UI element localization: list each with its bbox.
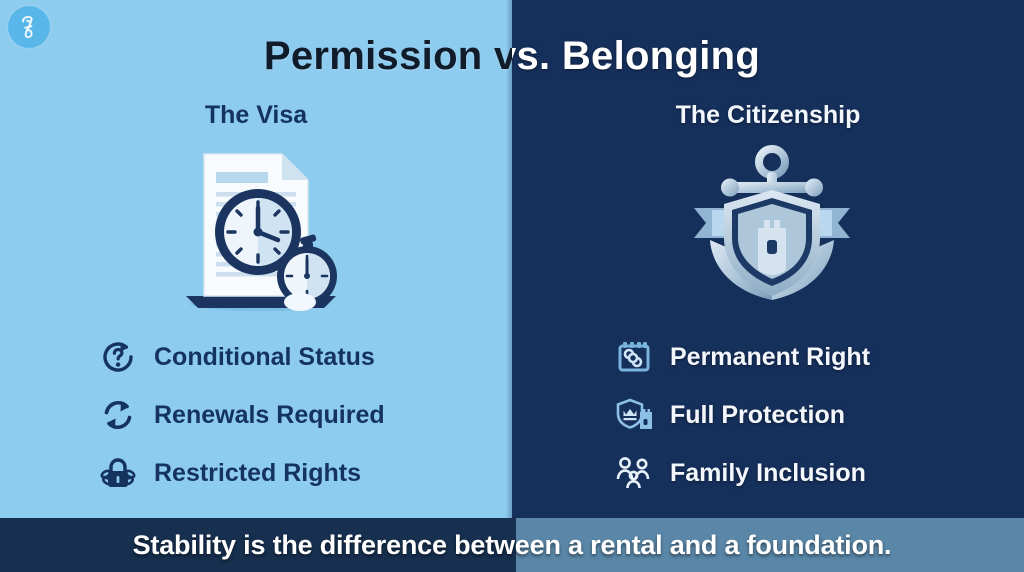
right-column-subtitle: The Citizenship	[512, 98, 1024, 132]
caption-text: Stability is the difference between a re…	[0, 518, 1024, 572]
visa-illustration	[160, 136, 360, 316]
bullet-item[interactable]: Restricted Rights	[96, 444, 496, 502]
question-mark-refresh-icon	[96, 335, 140, 379]
anchor-shield-castle-banner-icon	[672, 136, 872, 316]
left-column-subtitle: The Visa	[0, 98, 512, 132]
document-with-clock-and-stopwatch-icon	[160, 136, 360, 316]
infographic-slide: Permission vs. Belonging Permission vs. …	[0, 0, 1024, 572]
bullet-item[interactable]: Permanent Right	[612, 328, 1012, 386]
bullet-label: Full Protection	[670, 401, 845, 430]
bullet-item[interactable]: Family Inclusion	[612, 444, 1012, 502]
bullet-item[interactable]: Conditional Status	[96, 328, 496, 386]
visa-bullet-list: Conditional Status Renewals Required	[96, 328, 496, 502]
bullet-item[interactable]: Renewals Required	[96, 386, 496, 444]
bullet-label: Permanent Right	[670, 343, 870, 372]
padlock-with-chains-icon	[96, 451, 140, 495]
bullet-label: Conditional Status	[154, 343, 375, 372]
citizenship-bullet-list: Permanent Right Full Protection	[612, 328, 1012, 502]
bullet-item[interactable]: Full Protection	[612, 386, 1012, 444]
bullet-label: Restricted Rights	[154, 459, 361, 488]
bullet-label: Family Inclusion	[670, 459, 866, 488]
family-group-icon	[612, 451, 656, 495]
citizenship-illustration	[672, 136, 872, 316]
caption-bar: Stability is the difference between a re…	[0, 518, 1024, 572]
circular-arrows-refresh-icon	[96, 393, 140, 437]
headline: Permission vs. Belonging Permission vs. …	[0, 28, 1024, 90]
calendar-infinity-icon	[612, 335, 656, 379]
bullet-label: Renewals Required	[154, 401, 385, 430]
shield-crown-castle-icon	[612, 393, 656, 437]
